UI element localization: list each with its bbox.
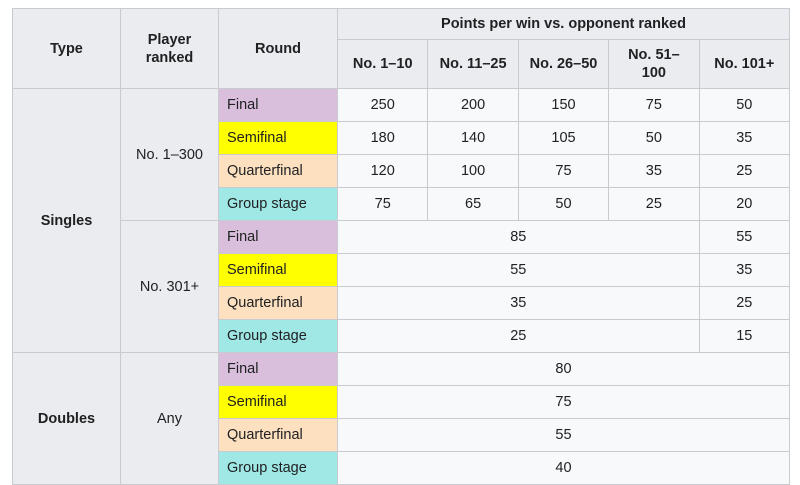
points-cell-merged: 55: [338, 254, 700, 287]
header-opponent-5: No. 101+: [699, 40, 789, 89]
points-cell: 75: [609, 89, 699, 122]
points-cell: 150: [518, 89, 608, 122]
round-cell-group-stage: Group stage: [219, 320, 338, 353]
points-cell: 120: [338, 155, 428, 188]
points-cell-merged: 75: [338, 386, 790, 419]
table-row: Singles No. 1–300 Final 250 200 150 75 5…: [13, 89, 790, 122]
points-cell: 55: [699, 221, 789, 254]
header-opponent-3: No. 26–50: [518, 40, 608, 89]
points-cell: 20: [699, 188, 789, 221]
points-cell-merged: 55: [338, 419, 790, 452]
points-cell: 200: [428, 89, 518, 122]
player-ranked-cell-1-300: No. 1–300: [121, 89, 219, 221]
header-opponent-4: No. 51–100: [609, 40, 699, 89]
round-cell-quarterfinal: Quarterfinal: [219, 155, 338, 188]
points-table-container: Type Player ranked Round Points per win …: [0, 0, 800, 485]
points-cell-merged: 85: [338, 221, 700, 254]
points-cell: 50: [609, 122, 699, 155]
round-cell-quarterfinal: Quarterfinal: [219, 287, 338, 320]
points-cell: 25: [699, 155, 789, 188]
points-cell: 50: [518, 188, 608, 221]
header-opponent-1: No. 1–10: [338, 40, 428, 89]
round-cell-semifinal: Semifinal: [219, 254, 338, 287]
header-round: Round: [219, 9, 338, 89]
type-cell-doubles: Doubles: [13, 353, 121, 485]
points-cell: 25: [609, 188, 699, 221]
points-cell: 180: [338, 122, 428, 155]
points-cell-merged: 25: [338, 320, 700, 353]
round-cell-group-stage: Group stage: [219, 188, 338, 221]
points-cell: 35: [699, 254, 789, 287]
round-cell-quarterfinal: Quarterfinal: [219, 419, 338, 452]
round-cell-final: Final: [219, 353, 338, 386]
table-row: No. 301+ Final 85 55: [13, 221, 790, 254]
points-cell: 25: [699, 287, 789, 320]
points-cell: 75: [518, 155, 608, 188]
points-cell: 250: [338, 89, 428, 122]
round-cell-final: Final: [219, 89, 338, 122]
points-cell-merged: 40: [338, 452, 790, 485]
round-cell-semifinal: Semifinal: [219, 386, 338, 419]
header-opponent-2: No. 11–25: [428, 40, 518, 89]
header-type: Type: [13, 9, 121, 89]
header-player-ranked: Player ranked: [121, 9, 219, 89]
points-cell-merged: 80: [338, 353, 790, 386]
points-cell: 35: [699, 122, 789, 155]
header-player-ranked-line2: ranked: [146, 50, 194, 66]
points-cell: 35: [609, 155, 699, 188]
points-cell: 75: [338, 188, 428, 221]
points-cell: 65: [428, 188, 518, 221]
tournament-points-table: Type Player ranked Round Points per win …: [12, 8, 790, 485]
points-cell: 15: [699, 320, 789, 353]
table-row: Doubles Any Final 80: [13, 353, 790, 386]
points-cell: 105: [518, 122, 608, 155]
round-cell-final: Final: [219, 221, 338, 254]
header-points-group: Points per win vs. opponent ranked: [338, 9, 790, 40]
header-row-top: Type Player ranked Round Points per win …: [13, 9, 790, 40]
type-cell-singles: Singles: [13, 89, 121, 353]
points-cell: 50: [699, 89, 789, 122]
player-ranked-cell-any: Any: [121, 353, 219, 485]
header-player-ranked-line1: Player: [148, 32, 192, 48]
points-cell: 100: [428, 155, 518, 188]
round-cell-semifinal: Semifinal: [219, 122, 338, 155]
points-cell-merged: 35: [338, 287, 700, 320]
player-ranked-cell-301-plus: No. 301+: [121, 221, 219, 353]
table-header: Type Player ranked Round Points per win …: [13, 9, 790, 89]
points-cell: 140: [428, 122, 518, 155]
round-cell-group-stage: Group stage: [219, 452, 338, 485]
table-body: Singles No. 1–300 Final 250 200 150 75 5…: [13, 89, 790, 485]
